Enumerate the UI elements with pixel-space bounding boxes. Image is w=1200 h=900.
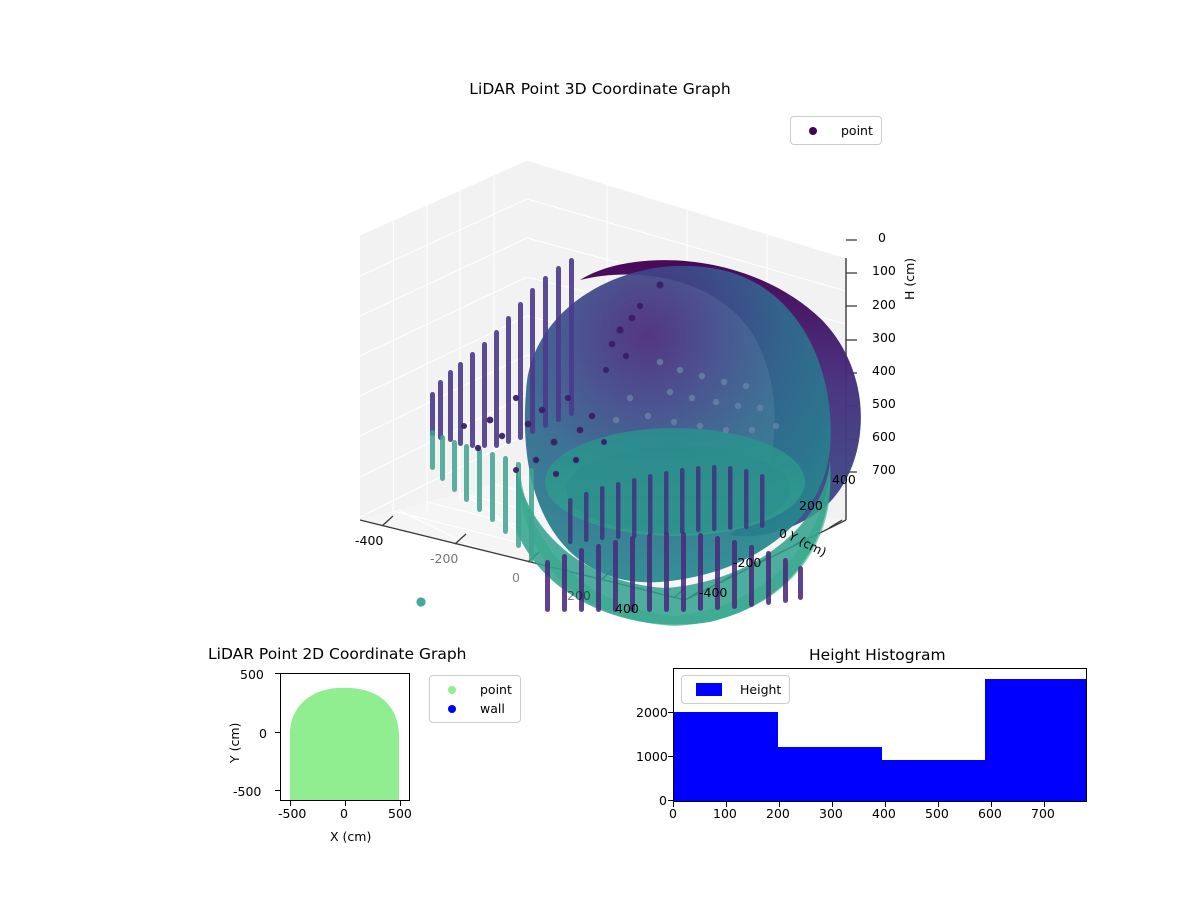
legend-label: wall [480, 699, 505, 718]
x2d-tickmark--500 [290, 801, 291, 806]
y2d-tick-0: 0 [259, 726, 267, 741]
y2d-tickmark-500 [275, 673, 280, 674]
xh-tickmark-200 [779, 802, 780, 807]
x-tick--200: -200 [430, 551, 458, 566]
matplotlib-figure: LiDAR Point 3D Coordinate Graph [0, 0, 1200, 900]
xh-tickmark-500 [938, 802, 939, 807]
y2d-tickmark--500 [275, 790, 280, 791]
y2d-tick-500: 500 [240, 667, 264, 682]
x-tick-0: 0 [512, 570, 520, 585]
chart-hist-title: Height Histogram [809, 646, 946, 664]
xh-tick-700: 700 [1031, 806, 1055, 821]
legend-item-height: Height [690, 680, 781, 699]
legend-label: Height [740, 680, 781, 699]
x2d-tick-500: 500 [388, 806, 412, 821]
y-tick--200: -200 [733, 555, 761, 570]
yh-tick-2000: 2000 [636, 705, 668, 720]
y2d-tickmark-0 [275, 732, 280, 733]
xh-tickmark-100 [726, 802, 727, 807]
point-cluster-2d [290, 688, 399, 800]
chart-3d-title: LiDAR Point 3D Coordinate Graph [0, 80, 1200, 98]
y-tick-400: 400 [832, 472, 856, 487]
yh-tickmark-1000 [668, 756, 673, 757]
chart-2d-legend[interactable]: point wall [429, 675, 521, 723]
x-tick-400: 400 [615, 601, 639, 616]
yh-tickmark-2000 [668, 712, 673, 713]
xh-tickmark-600 [991, 802, 992, 807]
x2d-tick-0: 0 [340, 806, 348, 821]
chart-2d-title: LiDAR Point 2D Coordinate Graph [208, 645, 466, 663]
xh-tick-500: 500 [925, 806, 949, 821]
z-tick-300: 300 [872, 330, 896, 345]
y2d-tick--500: -500 [233, 784, 261, 799]
z-tick-0: 0 [878, 230, 886, 245]
legend-item-point: point [438, 680, 512, 699]
hist-bar-3 [985, 679, 1086, 801]
xh-tick-400: 400 [872, 806, 896, 821]
legend-label: point [480, 680, 512, 699]
xh-tickmark-300 [832, 802, 833, 807]
hist-bar-2 [882, 760, 985, 801]
y2d-axis-label: Y (cm) [227, 723, 242, 763]
z-tick-500: 500 [872, 396, 896, 411]
x2d-tickmark-500 [400, 801, 401, 806]
chart-3d-legend[interactable]: point [790, 116, 882, 145]
xh-tick-0: 0 [669, 806, 677, 821]
z-tick-200: 200 [872, 297, 896, 312]
y-tick-200: 200 [799, 498, 823, 513]
point-marker-icon [809, 127, 817, 135]
chart-hist-legend[interactable]: Height [681, 675, 790, 704]
outlier-point [416, 597, 425, 606]
xh-tick-300: 300 [819, 806, 843, 821]
z-axis-label: H (cm) [902, 258, 917, 300]
z-tick-100: 100 [872, 263, 896, 278]
xh-tickmark-700 [1044, 802, 1045, 807]
xh-tickmark-400 [885, 802, 886, 807]
legend-item-point: point [799, 121, 873, 140]
point-marker-icon [448, 686, 456, 694]
y-tick-0: 0 [779, 526, 787, 541]
legend-item-wall: wall [438, 699, 512, 718]
yh-tick-0: 0 [659, 793, 667, 808]
yh-tickmark-0 [668, 800, 673, 801]
x-tick-200: 200 [567, 588, 591, 603]
hist-bar-1 [778, 747, 882, 801]
height-bar-icon [696, 683, 722, 696]
z-tick-400: 400 [872, 363, 896, 378]
xh-tick-100: 100 [713, 806, 737, 821]
xh-tickmark-0 [673, 802, 674, 807]
xh-tick-200: 200 [766, 806, 790, 821]
x2d-tickmark-0 [345, 801, 346, 806]
z-tick-600: 600 [872, 429, 896, 444]
yh-tick-1000: 1000 [636, 749, 668, 764]
wall-marker-icon [448, 705, 456, 713]
x-tick--400: -400 [355, 533, 383, 548]
x2d-axis-label: X (cm) [330, 829, 371, 844]
y-tick--400: -400 [699, 585, 727, 600]
legend-label: point [841, 121, 873, 140]
chart-2d-canvas [281, 674, 409, 800]
xh-tick-600: 600 [978, 806, 1002, 821]
chart-2d-axes[interactable] [280, 673, 410, 801]
x2d-tick--500: -500 [278, 806, 306, 821]
hist-bar-0 [674, 712, 778, 801]
z-tick-700: 700 [872, 462, 896, 477]
